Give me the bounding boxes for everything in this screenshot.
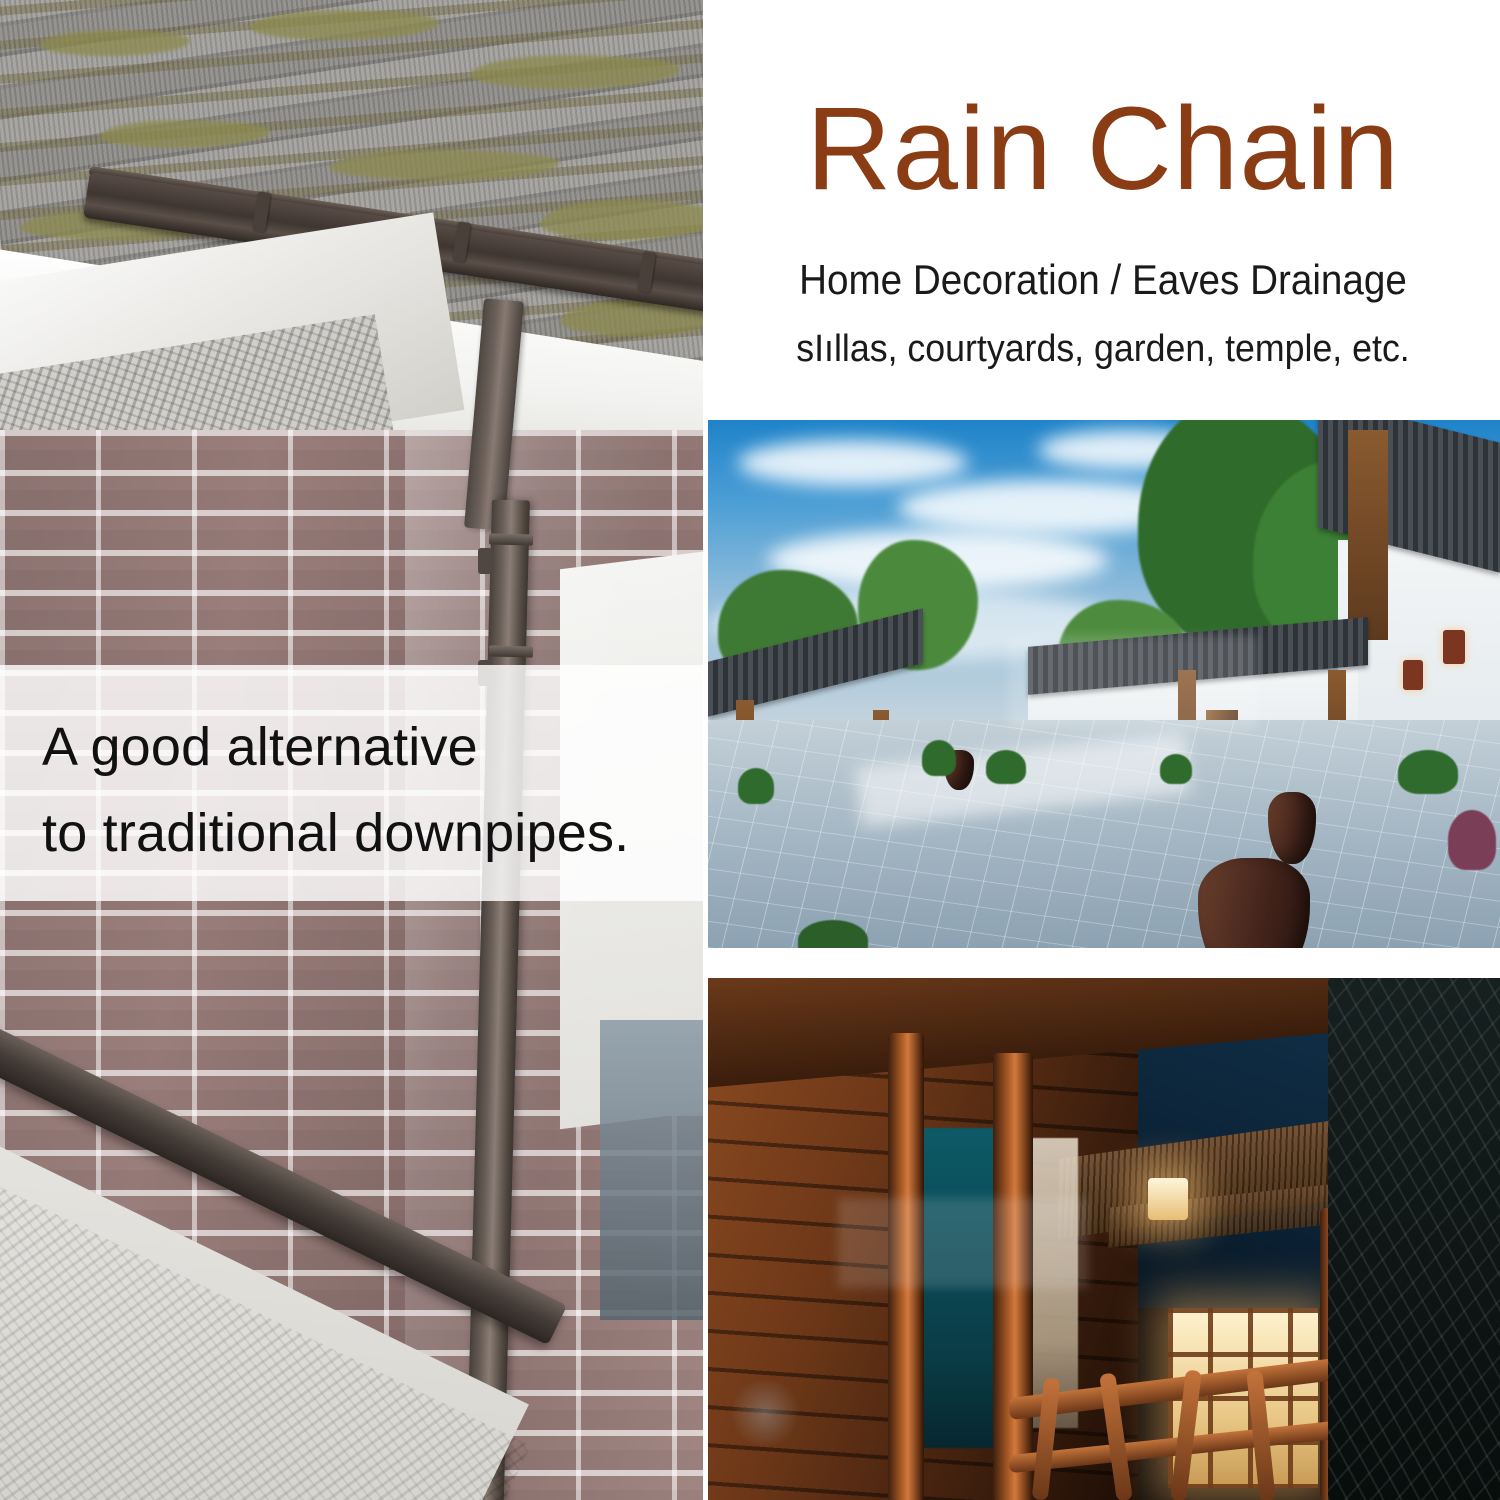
potted-plant xyxy=(1160,754,1192,784)
left-text-overlay-band xyxy=(0,665,705,901)
porch-lamp xyxy=(1148,1178,1188,1220)
wooden-pillar xyxy=(1348,430,1388,640)
overlay-headline-line-1: A good alternative xyxy=(42,716,478,778)
downpipe-band xyxy=(489,645,533,657)
overlay-headline-line-2: to traditional downpipes. xyxy=(42,802,629,864)
potted-plant xyxy=(986,750,1026,784)
window-reflection xyxy=(600,1020,703,1320)
wall-corner-highlight xyxy=(405,430,703,1500)
downpipe-clip xyxy=(478,548,492,574)
header-applications: sIıllas, courtyards, garden, temple, etc… xyxy=(730,328,1476,371)
header-subtitle: Home Decoration / Eaves Drainage xyxy=(738,256,1468,304)
downpipe-band xyxy=(489,533,533,545)
page-title: Rain Chain xyxy=(706,90,1500,208)
hanging-lantern xyxy=(1403,660,1423,690)
product-marketing-image: A good alternative to traditional downpi… xyxy=(0,0,1500,1500)
teal-door-curtain xyxy=(913,1128,1003,1448)
hanging-lantern xyxy=(1443,630,1465,664)
moss-patch xyxy=(540,200,703,240)
lens-flare xyxy=(730,1378,800,1448)
ceramic-jar-large xyxy=(1198,858,1310,948)
wooden-lodge-night-photo xyxy=(708,978,1500,1500)
header-block: Rain Chain Home Decoration / Eaves Drain… xyxy=(706,0,1500,418)
cloud xyxy=(738,440,968,486)
flowering-plant xyxy=(1448,810,1496,870)
dark-foliage xyxy=(1328,978,1500,1500)
potted-plant xyxy=(738,768,774,804)
potted-plant xyxy=(1398,750,1458,794)
watermark-blur xyxy=(838,1198,1088,1288)
potted-plant xyxy=(922,740,956,776)
watermark-blur xyxy=(1008,635,1258,730)
traditional-courtyard-photo xyxy=(708,420,1500,948)
